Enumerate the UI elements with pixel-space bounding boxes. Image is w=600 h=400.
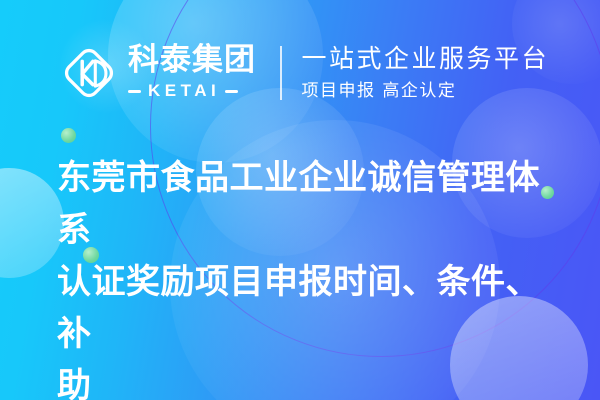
banner-header: 科泰集团 KETAI 一站式企业服务平台 项目申报 高企认定: [58, 36, 549, 110]
page-title-line: 东莞市食品工业企业诚信管理体系: [57, 152, 569, 256]
promo-banner: 科泰集团 KETAI 一站式企业服务平台 项目申报 高企认定 东莞市食品工业企业…: [0, 0, 600, 400]
tagline-block: 一站式企业服务平台 项目申报 高企认定: [302, 45, 550, 101]
brand-name-en: KETAI: [148, 81, 220, 101]
ketai-kd-monogram-icon: [58, 42, 120, 104]
page-title-line: 认证奖励项目申报时间、条件、补: [57, 256, 569, 360]
header-divider: [280, 46, 282, 100]
wordmark-rule-right: [225, 90, 238, 93]
tagline-main: 一站式企业服务平台: [302, 45, 550, 74]
brand-wordmark: 科泰集团 KETAI: [128, 45, 256, 101]
page-title-line: 助: [57, 360, 569, 400]
accent-dot-icon: [61, 128, 76, 143]
background-circle-left-edge: [0, 168, 64, 278]
brand-name-cn: 科泰集团: [128, 45, 256, 76]
brand-name-en-row: KETAI: [128, 81, 256, 101]
tagline-sub: 项目申报 高企认定: [302, 81, 550, 101]
page-title: 东莞市食品工业企业诚信管理体系 认证奖励项目申报时间、条件、补 助: [57, 152, 569, 400]
wordmark-rule-left: [128, 90, 141, 93]
